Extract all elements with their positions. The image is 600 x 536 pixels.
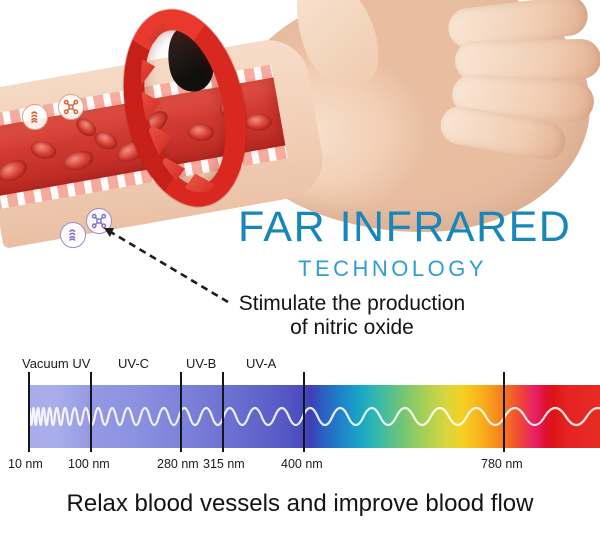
callout-text: Stimulate the production of nitric oxide — [212, 292, 492, 340]
tick-label-400nm: 400 nm — [281, 457, 323, 471]
waveform-overlay — [28, 385, 600, 448]
tick-line-100nm — [90, 372, 92, 452]
footer-caption: Relax blood vessels and improve blood fl… — [0, 490, 600, 518]
tick-label-315nm: 315 nm — [203, 457, 245, 471]
band-label-uv-b: UV-B — [186, 356, 216, 371]
tick-label-10nm: 10 nm — [8, 457, 43, 471]
tick-label-780nm: 780 nm — [481, 457, 523, 471]
tick-line-400nm — [303, 372, 305, 452]
callout-line-1: Stimulate the production — [239, 292, 465, 315]
tick-line-10nm — [28, 372, 30, 452]
callout-line-2: of nitric oxide — [212, 316, 492, 340]
band-label-vacuum-uv: Vacuum UV — [22, 356, 90, 371]
tick-label-280nm: 280 nm — [157, 457, 199, 471]
band-label-uv-a: UV-A — [246, 356, 276, 371]
tick-line-280nm — [180, 372, 182, 452]
tick-line-315nm — [222, 372, 224, 452]
spectrum-chart: Vacuum UV UV-C UV-B UV-A 10 nm 100 nm 28… — [0, 340, 600, 536]
tick-line-780nm — [503, 372, 505, 452]
tick-label-100nm: 100 nm — [68, 457, 110, 471]
band-label-uv-c: UV-C — [118, 356, 149, 371]
page-title: FAR INFRARED — [238, 206, 588, 249]
page-subtitle: TECHNOLOGY — [298, 258, 588, 280]
pointer-arrow — [0, 0, 600, 340]
